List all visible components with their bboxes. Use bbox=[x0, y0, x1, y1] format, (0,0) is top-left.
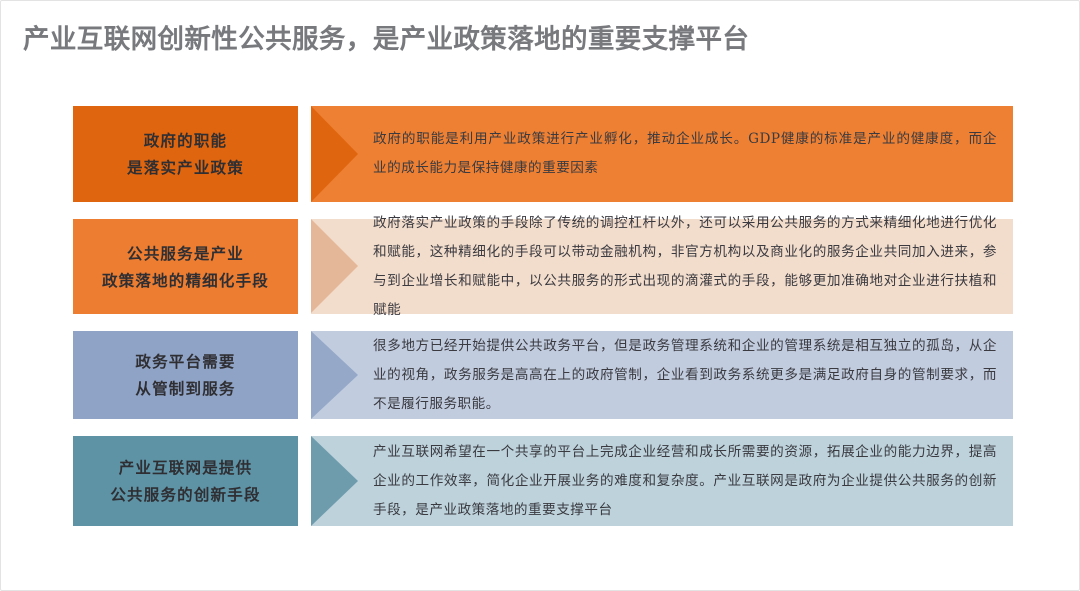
row-label-text: 产业互联网是提供 公共服务的创新手段 bbox=[110, 454, 260, 508]
process-row[interactable]: 公共服务是产业 政策落地的精细化手段政府落实产业政策的手段除了传统的调控杠杆以外… bbox=[73, 219, 1013, 314]
row-gap bbox=[298, 106, 311, 202]
row-label-text: 公共服务是产业 政策落地的精细化手段 bbox=[102, 240, 269, 294]
row-label-text: 政府的职能 是落实产业政策 bbox=[127, 127, 244, 181]
process-rows: 政府的职能 是落实产业政策政府的职能是利用产业政策进行产业孵化，推动企业成长。G… bbox=[73, 106, 1013, 526]
page-title: 产业互联网创新性公共服务，是产业政策落地的重要支撑平台 bbox=[23, 23, 1053, 57]
row-gap bbox=[298, 331, 311, 419]
row-content-block[interactable]: 很多地方已经开始提供公共政务平台，但是政务管理系统和企业的管理系统是相互独立的孤… bbox=[311, 331, 1013, 419]
process-row[interactable]: 政务平台需要 从管制到服务很多地方已经开始提供公共政务平台，但是政务管理系统和企… bbox=[73, 331, 1013, 419]
row-label-text: 政务平台需要 从管制到服务 bbox=[135, 348, 235, 402]
slide-canvas: 产业互联网创新性公共服务，是产业政策落地的重要支撑平台 政府的职能 是落实产业政… bbox=[0, 0, 1080, 591]
row-content-text: 政府落实产业政策的手段除了传统的调控杠杆以外，还可以采用公共服务的方式来精细化地… bbox=[311, 209, 1013, 325]
row-content-block[interactable]: 政府落实产业政策的手段除了传统的调控杠杆以外，还可以采用公共服务的方式来精细化地… bbox=[311, 219, 1013, 314]
row-gap bbox=[298, 219, 311, 314]
row-content-text: 很多地方已经开始提供公共政务平台，但是政务管理系统和企业的管理系统是相互独立的孤… bbox=[311, 332, 1013, 419]
row-label-block[interactable]: 政府的职能 是落实产业政策 bbox=[73, 106, 298, 202]
row-gap bbox=[298, 436, 311, 526]
row-label-block[interactable]: 公共服务是产业 政策落地的精细化手段 bbox=[73, 219, 298, 314]
row-content-block[interactable]: 政府的职能是利用产业政策进行产业孵化，推动企业成长。GDP健康的标准是产业的健康… bbox=[311, 106, 1013, 202]
process-row[interactable]: 产业互联网是提供 公共服务的创新手段产业互联网希望在一个共享的平台上完成企业经营… bbox=[73, 436, 1013, 526]
row-content-text: 政府的职能是利用产业政策进行产业孵化，推动企业成长。GDP健康的标准是产业的健康… bbox=[311, 125, 1013, 183]
row-label-block[interactable]: 政务平台需要 从管制到服务 bbox=[73, 331, 298, 419]
row-label-block[interactable]: 产业互联网是提供 公共服务的创新手段 bbox=[73, 436, 298, 526]
row-content-text: 产业互联网希望在一个共享的平台上完成企业经营和成长所需要的资源，拓展企业的能力边… bbox=[311, 438, 1013, 525]
process-row[interactable]: 政府的职能 是落实产业政策政府的职能是利用产业政策进行产业孵化，推动企业成长。G… bbox=[73, 106, 1013, 202]
row-content-block[interactable]: 产业互联网希望在一个共享的平台上完成企业经营和成长所需要的资源，拓展企业的能力边… bbox=[311, 436, 1013, 526]
